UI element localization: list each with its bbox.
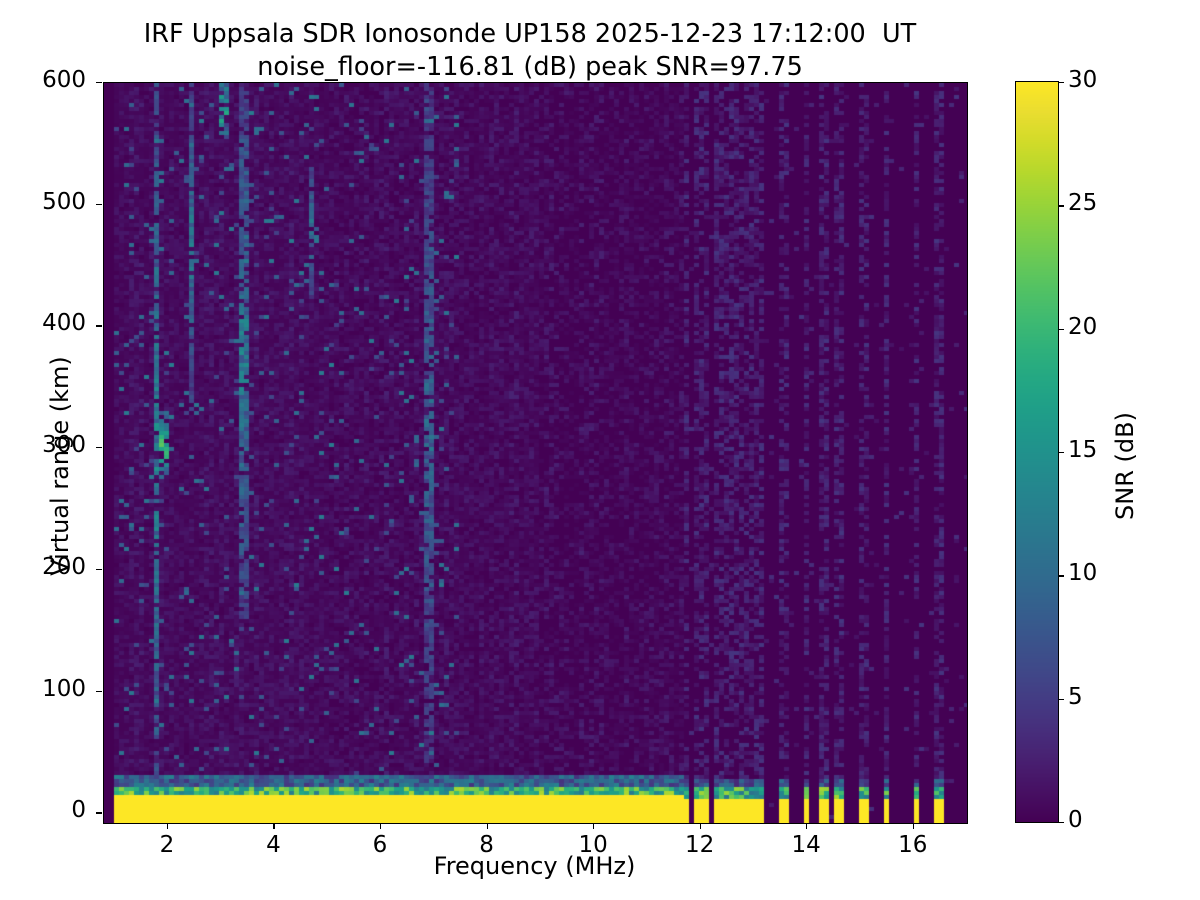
- y-tick-label: 100: [6, 676, 86, 702]
- colorbar-tick-mark: [1058, 82, 1064, 83]
- ionogram-plot-area: [103, 82, 968, 824]
- y-tick-mark: [96, 691, 102, 692]
- y-tick-label: 0: [6, 797, 86, 823]
- colorbar: [1016, 82, 1058, 822]
- x-tick-mark: [593, 823, 594, 829]
- title-line-1: IRF Uppsala SDR Ionosonde UP158 2025-12-…: [0, 18, 1060, 51]
- x-tick-mark: [700, 823, 701, 829]
- colorbar-tick-mark: [1058, 452, 1064, 453]
- y-tick-mark: [96, 325, 102, 326]
- y-tick-mark: [96, 82, 102, 83]
- colorbar-tick-label: 5: [1068, 684, 1138, 710]
- colorbar-gradient: [1016, 82, 1058, 822]
- y-tick-mark: [96, 447, 102, 448]
- x-tick-mark: [273, 823, 274, 829]
- colorbar-tick-label: 30: [1068, 67, 1138, 93]
- y-axis-label: Virtual range (km): [46, 316, 74, 616]
- colorbar-tick-mark: [1058, 205, 1064, 206]
- x-axis-label: Frequency (MHz): [103, 852, 966, 880]
- x-tick-mark: [167, 823, 168, 829]
- y-tick-mark: [96, 204, 102, 205]
- figure-title: IRF Uppsala SDR Ionosonde UP158 2025-12-…: [0, 18, 1060, 84]
- colorbar-tick-label: 25: [1068, 190, 1138, 216]
- colorbar-label: SNR (dB): [1111, 316, 1139, 616]
- x-tick-mark: [487, 823, 488, 829]
- y-tick-mark: [96, 812, 102, 813]
- y-tick-mark: [96, 569, 102, 570]
- title-line-2: noise_floor=-116.81 (dB) peak SNR=97.75: [0, 51, 1060, 84]
- ionogram-heatmap: [104, 83, 967, 823]
- x-tick-mark: [806, 823, 807, 829]
- x-tick-mark: [913, 823, 914, 829]
- y-tick-label: 600: [6, 67, 86, 93]
- y-tick-label: 500: [6, 189, 86, 215]
- colorbar-tick-mark: [1058, 329, 1064, 330]
- colorbar-tick-mark: [1058, 575, 1064, 576]
- ionogram-figure: IRF Uppsala SDR Ionosonde UP158 2025-12-…: [0, 0, 1200, 900]
- colorbar-tick-mark: [1058, 699, 1064, 700]
- x-tick-mark: [380, 823, 381, 829]
- colorbar-tick-mark: [1058, 822, 1064, 823]
- colorbar-tick-label: 0: [1068, 807, 1138, 833]
